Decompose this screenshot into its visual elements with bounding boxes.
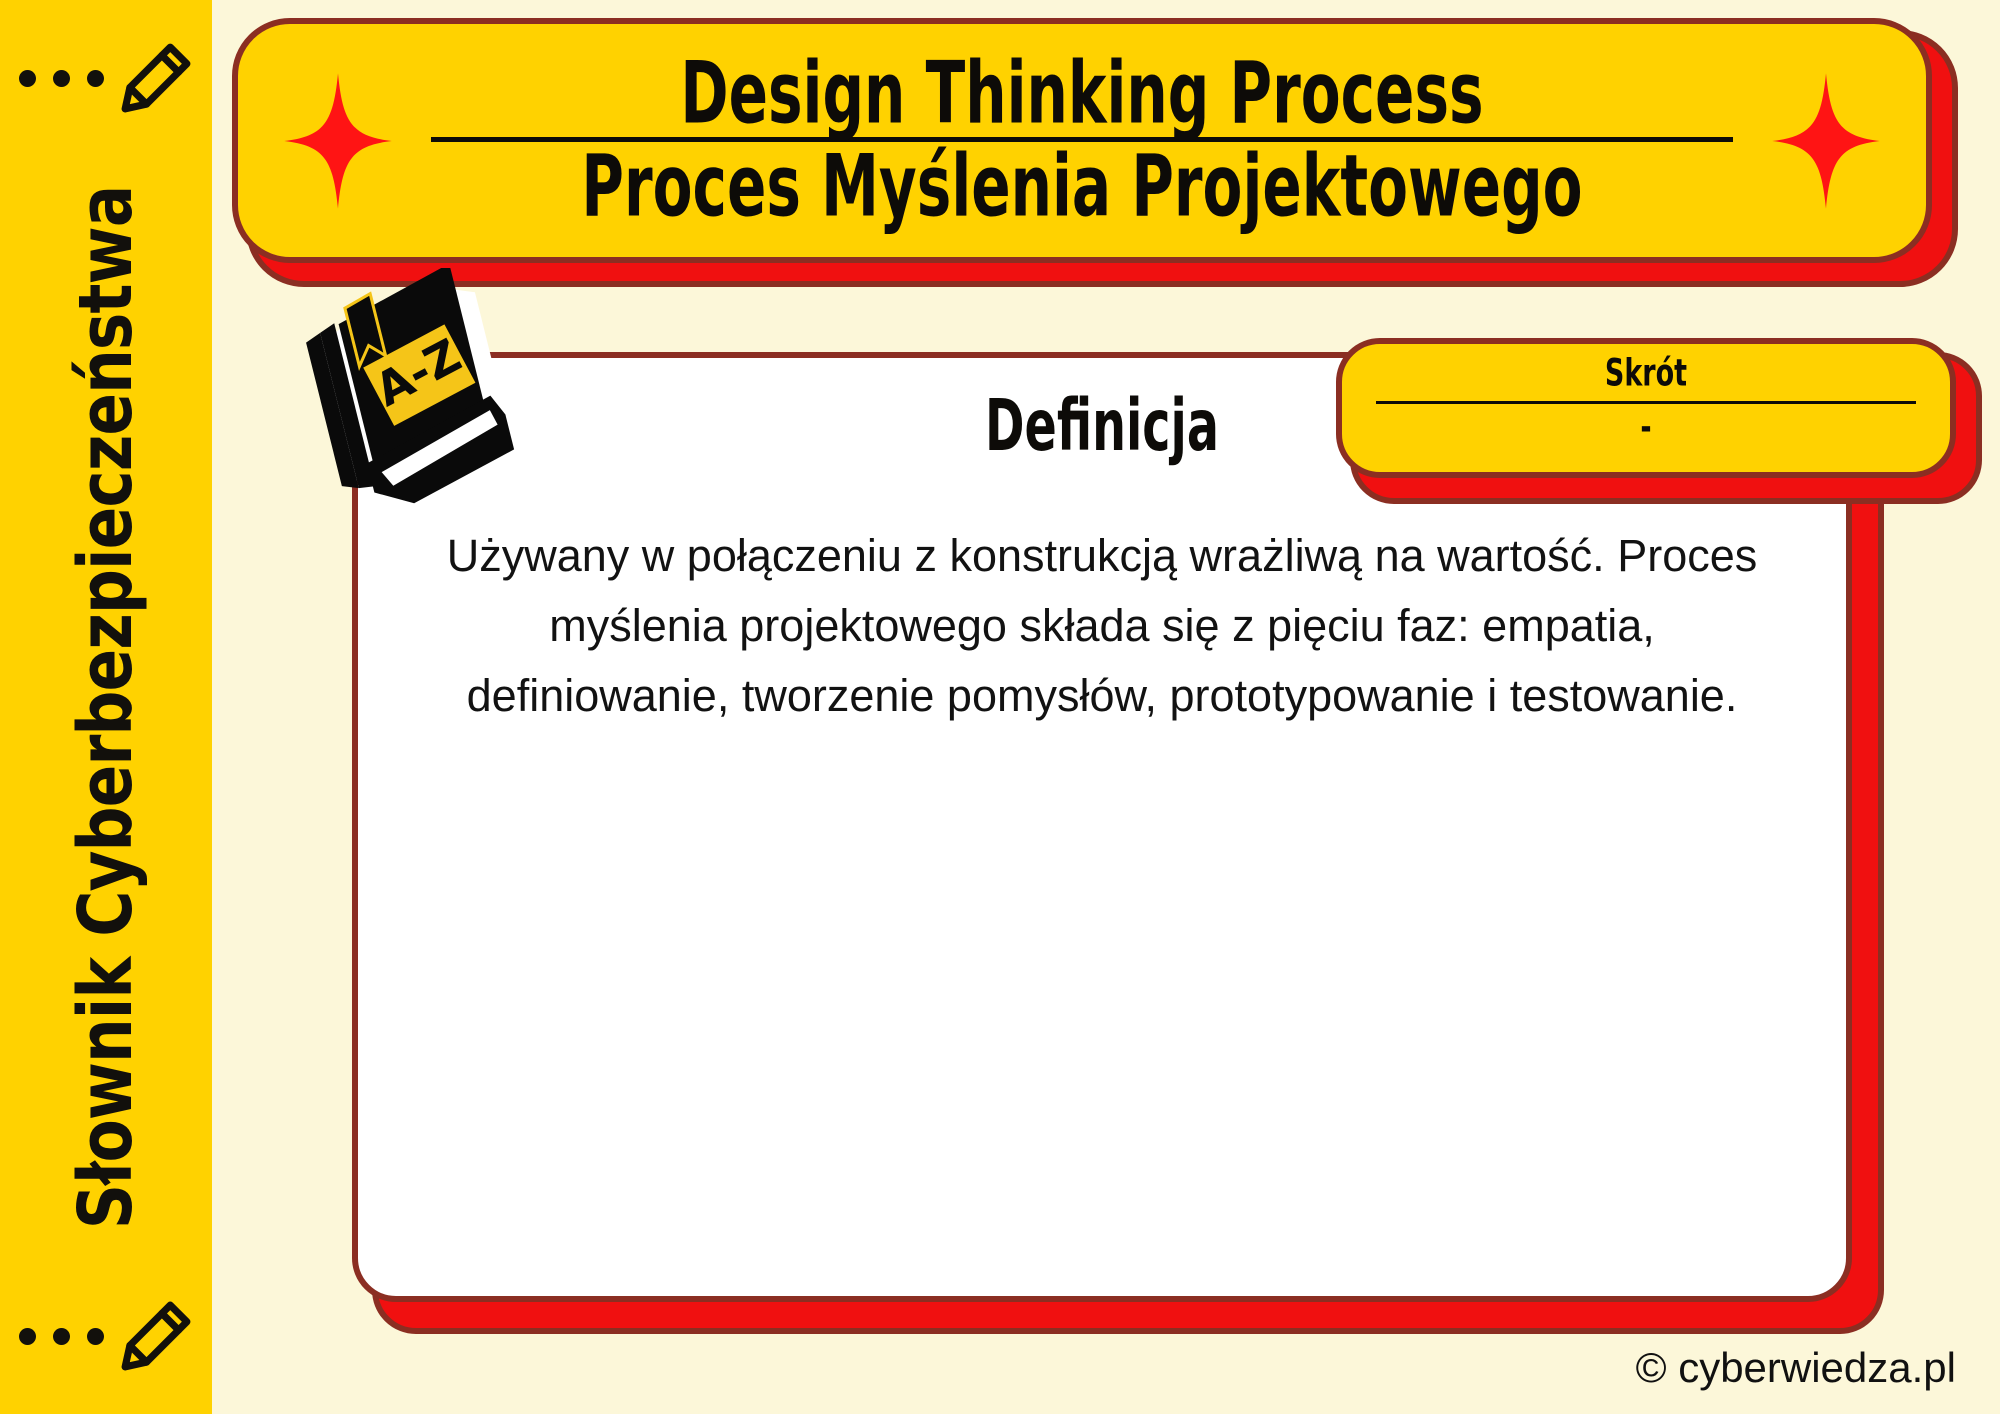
abbreviation-label: Skrót <box>1403 352 1889 396</box>
sidebar: Słownik Cyberbezpieczeństwa <box>0 0 212 1414</box>
footer-copyright: © cyberwiedza.pl <box>1636 1344 1956 1392</box>
sidebar-title: Słownik Cyberbezpieczeństwa <box>63 185 149 1229</box>
dot-icon <box>87 1328 104 1345</box>
dot-icon <box>19 1328 36 1345</box>
definition-body: Używany w połączeniu z konstrukcją wrażl… <box>428 521 1776 730</box>
abbreviation-box: Skrót - <box>1336 338 1956 478</box>
dots-group-bottom <box>19 1328 104 1345</box>
sparkle-icon <box>1766 71 1886 211</box>
header-titles: Design Thinking Process Proces Myślenia … <box>398 61 1766 220</box>
title-english: Design Thinking Process <box>485 51 1678 137</box>
az-book-icon: A-Z <box>290 268 520 508</box>
pencil-icon <box>118 1298 194 1374</box>
sparkle-icon <box>278 71 398 211</box>
poster-page: Słownik Cyberbezpieczeństwa Design T <box>0 0 2000 1414</box>
title-polish: Proces Myślenia Projektowego <box>485 144 1678 230</box>
sidebar-bottom-decoration <box>0 1276 212 1396</box>
dot-icon <box>53 1328 70 1345</box>
abbreviation-divider <box>1376 401 1916 404</box>
abbreviation-value: - <box>1403 406 1889 450</box>
sidebar-title-wrap: Słownik Cyberbezpieczeństwa <box>0 0 212 1414</box>
header-card: Design Thinking Process Proces Myślenia … <box>232 18 1932 263</box>
